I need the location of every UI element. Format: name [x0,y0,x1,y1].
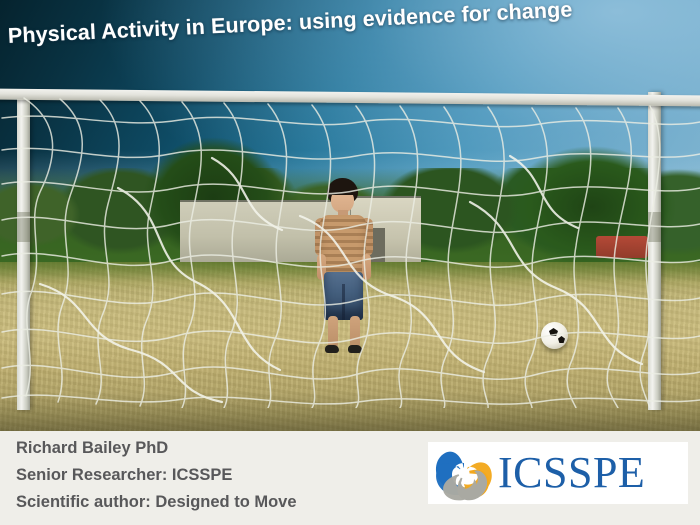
speaker-role: Senior Researcher: ICSSPE [16,462,297,489]
icsspe-wordmark: ICSSPE [498,451,645,495]
foreground-shadow [0,392,700,431]
speaker-affiliation: Scientific author: Designed to Move [16,489,297,516]
icsspe-logo: ICSSPE [428,442,688,504]
boy-denim-shorts [324,272,363,320]
soccer-ball [541,322,568,349]
goal-post-left [17,92,30,410]
boy-shoe-right [348,345,362,353]
speaker-name: Richard Bailey PhD [16,435,297,462]
boy-striped-shirt [320,215,366,277]
red-vehicle [596,236,648,258]
boy-leg-right [350,316,360,348]
icsspe-pinwheel-icon [432,444,496,502]
slide-footer: Richard Bailey PhD Senior Researcher: IC… [0,431,700,525]
boy-arm-right [362,254,371,280]
boy-figure [313,178,375,358]
boy-shoe-left [325,345,339,353]
boy-leg-left [328,316,338,348]
presentation-slide: Physical Activity in Europe: using evide… [0,0,700,525]
goal-post-right [648,92,661,410]
boy-fringe [327,184,358,195]
title-slide-photo [0,0,700,431]
speaker-credits: Richard Bailey PhD Senior Researcher: IC… [16,435,297,516]
